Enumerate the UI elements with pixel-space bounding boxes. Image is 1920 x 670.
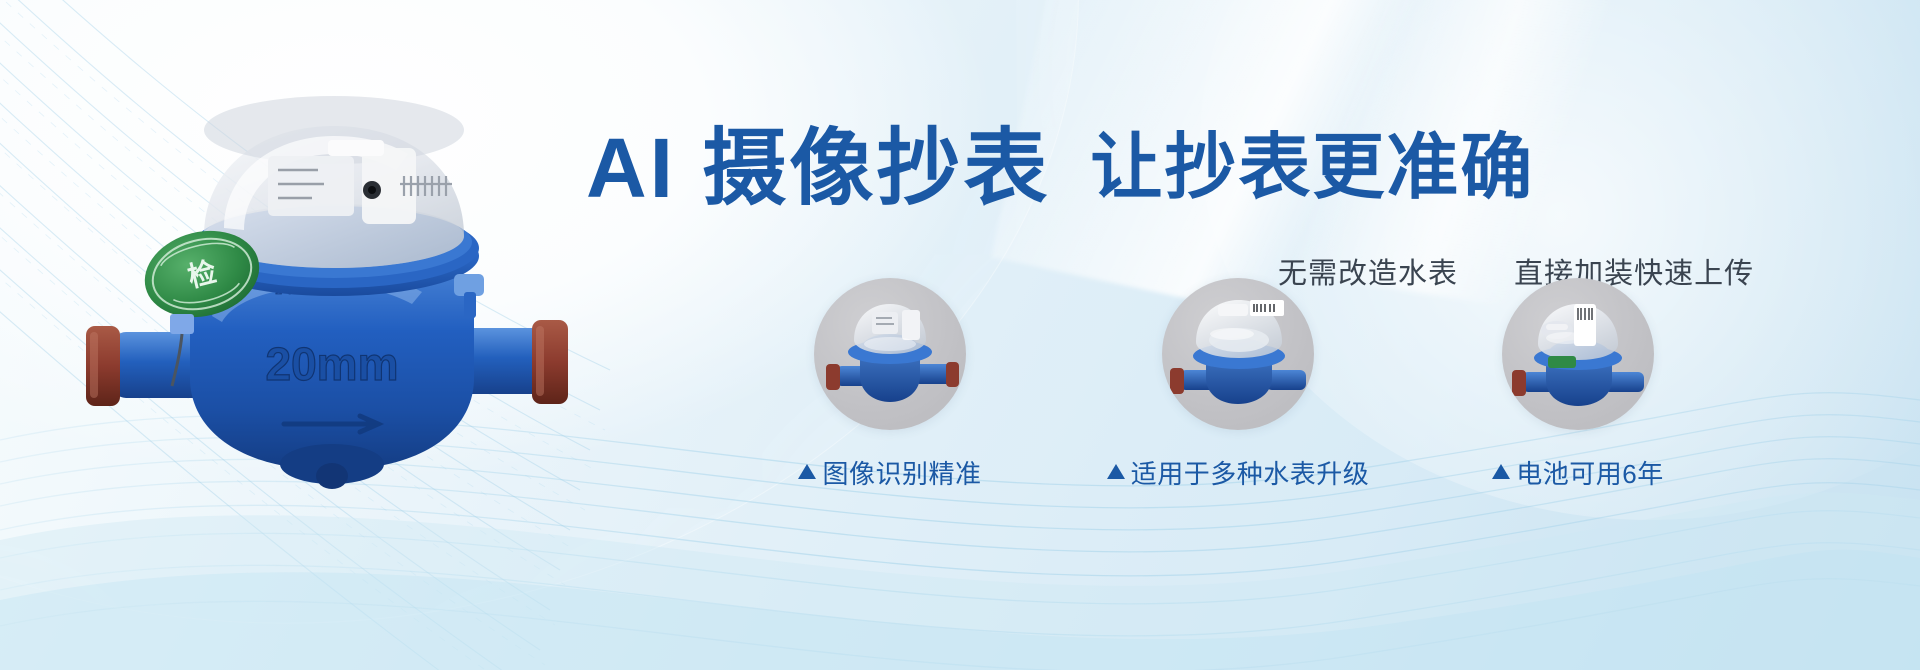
promo-banner: 20mm NSF xyxy=(0,0,1920,670)
feature-label-text-2: 适用于多种水表升级 xyxy=(1131,454,1370,491)
feature-list: 图像识别精准 xyxy=(760,278,1840,558)
triangle-marker-icon xyxy=(798,464,816,479)
feature-thumbnail-3 xyxy=(1502,278,1654,430)
triangle-marker-icon xyxy=(1492,464,1510,479)
hero-size-marking: 20mm xyxy=(266,338,399,390)
feature-item-3: 电池可用6年 xyxy=(1448,278,1708,491)
headline-primary: AI 摄像抄表 xyxy=(586,126,1050,210)
feature-item-2: 适用于多种水表升级 xyxy=(1108,278,1368,491)
feature-item-1: 图像识别精准 xyxy=(760,278,1020,491)
headline: AI 摄像抄表 让抄表更准确 xyxy=(586,102,1886,234)
feature-label-text-1: 图像识别精准 xyxy=(822,454,981,491)
feature-label-2: 适用于多种水表升级 xyxy=(1107,454,1370,491)
feature-label-text-3: 电池可用6年 xyxy=(1516,454,1663,491)
feature-label-1: 图像识别精准 xyxy=(798,454,981,491)
feature-label-3: 电池可用6年 xyxy=(1492,454,1663,491)
feature-thumbnail-2 xyxy=(1162,278,1314,430)
triangle-marker-icon xyxy=(1107,464,1125,479)
headline-secondary: 让抄表更准确 xyxy=(1090,132,1534,204)
hero-water-meter-image: 20mm NSF xyxy=(72,78,592,508)
feature-thumbnail-1 xyxy=(814,278,966,430)
